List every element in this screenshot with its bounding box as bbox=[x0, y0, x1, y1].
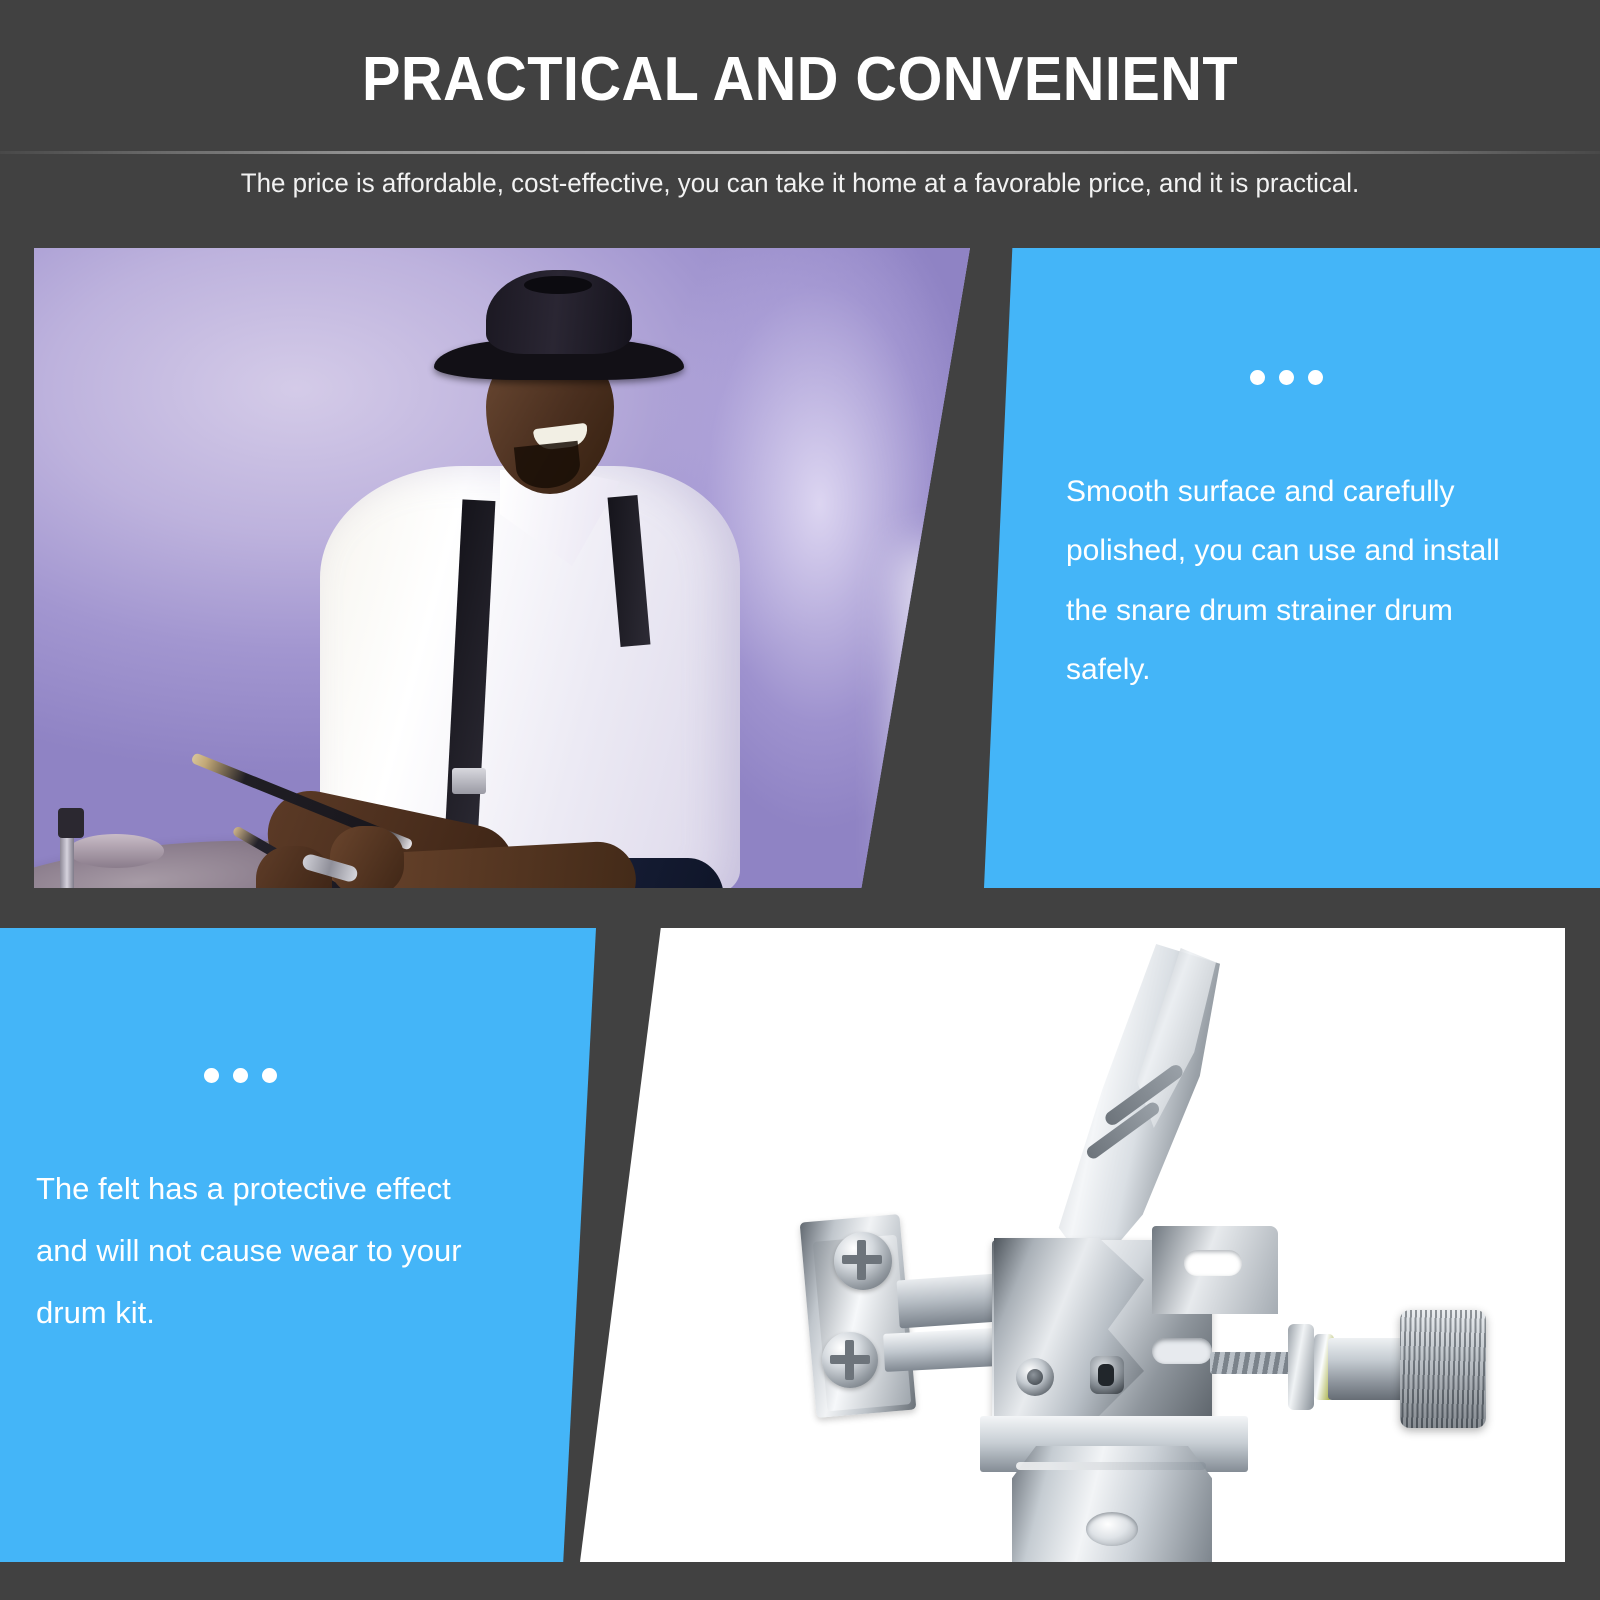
washer-outer bbox=[1288, 1324, 1314, 1410]
header-divider bbox=[0, 151, 1600, 154]
dot-3 bbox=[262, 1068, 277, 1083]
drummer-photo-panel bbox=[34, 248, 970, 888]
snare-drum-strainer-product bbox=[780, 938, 1480, 1558]
dot-2 bbox=[1279, 370, 1294, 385]
pivot-rivet-left-center bbox=[1027, 1369, 1043, 1385]
phillips-screw-lower bbox=[822, 1332, 878, 1388]
mounting-foot-ridge bbox=[1016, 1462, 1206, 1470]
knurled-adjustment-knob bbox=[1400, 1310, 1486, 1428]
dot-2 bbox=[233, 1068, 248, 1083]
screw-cross-vertical bbox=[845, 1340, 854, 1380]
feature-panel-smooth-surface: Smooth surface and carefully polished, y… bbox=[984, 248, 1600, 888]
feature-2-text: The felt has a protective effect and wil… bbox=[36, 1158, 466, 1344]
phillips-screw-upper bbox=[834, 1232, 892, 1290]
page-header: PRACTICAL AND CONVENIENT The price is af… bbox=[0, 0, 1600, 248]
cymbal-bell bbox=[68, 834, 164, 868]
knob-shaft bbox=[1328, 1338, 1408, 1400]
hat-crease bbox=[524, 276, 592, 294]
feature-1-text: Smooth surface and carefully polished, y… bbox=[1066, 462, 1536, 700]
dot-decoration bbox=[1250, 370, 1323, 390]
dot-1 bbox=[204, 1068, 219, 1083]
dot-3 bbox=[1308, 370, 1323, 385]
page-title: PRACTICAL AND CONVENIENT bbox=[56, 44, 1544, 115]
mounting-foot-hole bbox=[1086, 1512, 1138, 1546]
stage-light-tube bbox=[916, 566, 942, 866]
mid-slot-hole bbox=[1152, 1338, 1212, 1364]
suspender-clip bbox=[452, 768, 486, 794]
screw-cross-vertical bbox=[857, 1240, 866, 1280]
dot-decoration bbox=[204, 1068, 277, 1088]
top-slot-hole bbox=[1184, 1250, 1242, 1276]
page-subtitle: The price is affordable, cost-effective,… bbox=[32, 168, 1568, 199]
product-photo-panel bbox=[580, 928, 1565, 1562]
cymbal-felt bbox=[58, 808, 84, 838]
feature-panel-felt-protection: The felt has a protective effect and wil… bbox=[0, 928, 596, 1562]
dot-1 bbox=[1250, 370, 1265, 385]
fedora-hat-icon bbox=[434, 270, 684, 382]
pivot-rivet-right-center bbox=[1098, 1364, 1114, 1386]
